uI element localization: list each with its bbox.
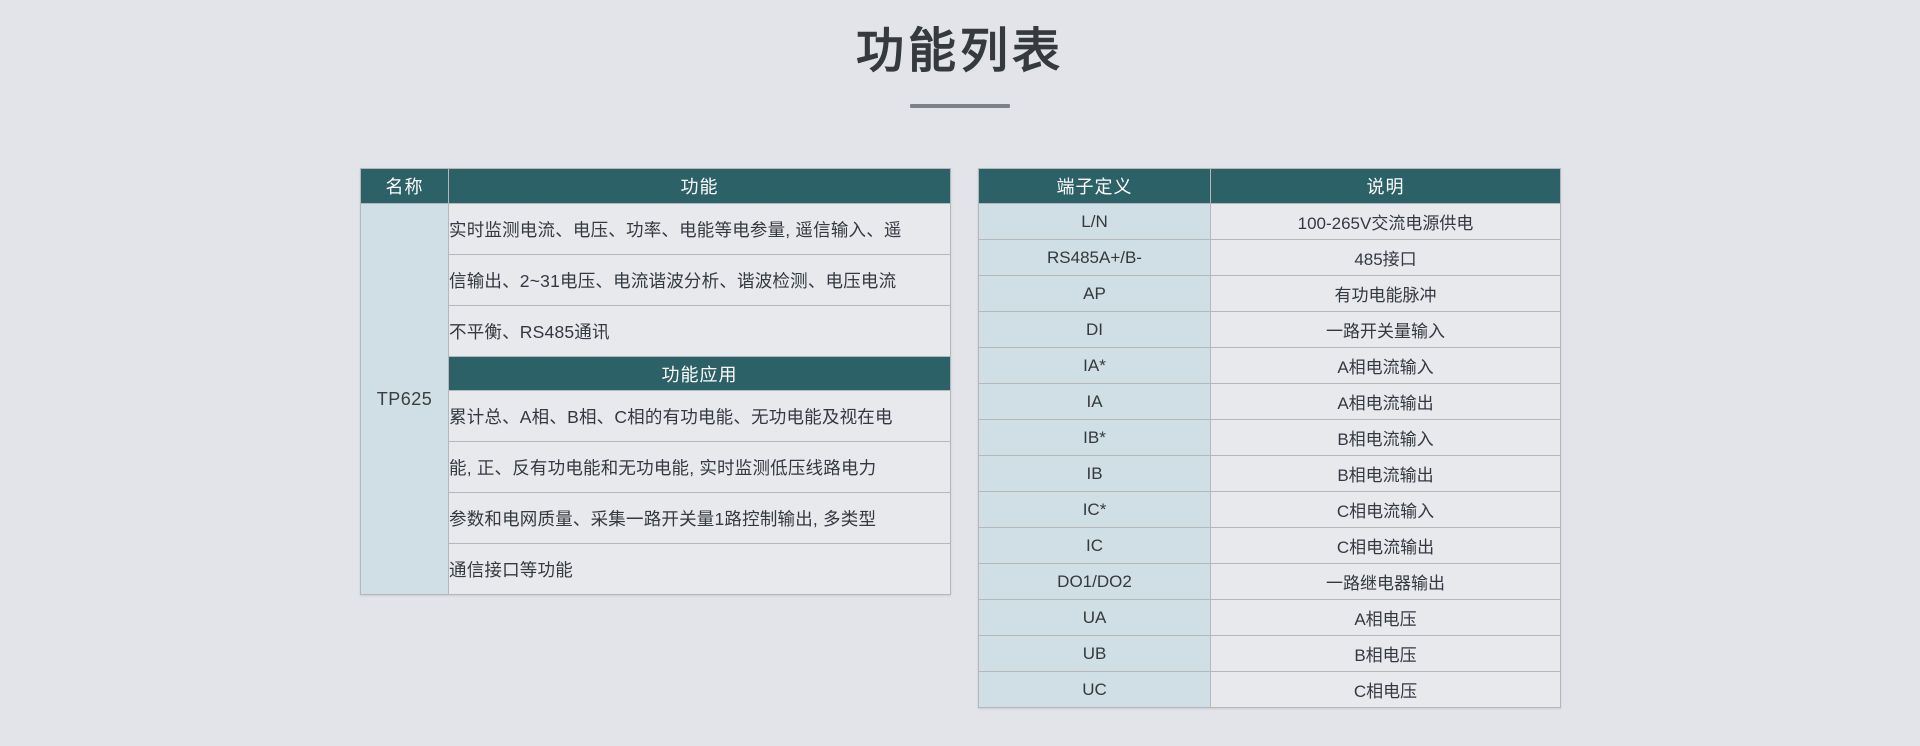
function-text: 实时监测电流、电压、功率、电能等电参量, 遥信输入、遥 — [449, 204, 951, 255]
terminal-name: AP — [979, 276, 1211, 312]
terminal-description: B相电流输入 — [1211, 420, 1561, 456]
page-title: 功能列表 — [0, 22, 1920, 82]
table-row: TP625 实时监测电流、电压、功率、电能等电参量, 遥信输入、遥 — [361, 204, 951, 255]
table-row: RS485A+/B-485接口 — [979, 240, 1561, 276]
terminal-description: 一路开关量输入 — [1211, 312, 1561, 348]
terminal-description: C相电流输出 — [1211, 528, 1561, 564]
right-table-header-row: 端子定义 说明 — [979, 169, 1561, 204]
terminal-name: DO1/DO2 — [979, 564, 1211, 600]
function-text: 不平衡、RS485通讯 — [449, 306, 951, 357]
table-row: 能, 正、反有功电能和无功电能, 实时监测低压线路电力 — [361, 442, 951, 493]
table-row: DO1/DO2一路继电器输出 — [979, 564, 1561, 600]
terminal-name: IC — [979, 528, 1211, 564]
title-divider — [910, 104, 1010, 108]
table-row: ICC相电流输出 — [979, 528, 1561, 564]
table-row: IAA相电流输出 — [979, 384, 1561, 420]
terminal-name: L/N — [979, 204, 1211, 240]
terminal-description: 一路继电器输出 — [1211, 564, 1561, 600]
terminal-name: IA — [979, 384, 1211, 420]
table-row: UBB相电压 — [979, 636, 1561, 672]
left-header-function: 功能 — [449, 169, 951, 204]
table-row: IA*A相电流输入 — [979, 348, 1561, 384]
table-row: 不平衡、RS485通讯 — [361, 306, 951, 357]
terminal-name: UA — [979, 600, 1211, 636]
table-subheader-row: 功能应用 — [361, 357, 951, 391]
terminal-description: 有功电能脉冲 — [1211, 276, 1561, 312]
table-row: 参数和电网质量、采集一路开关量1路控制输出, 多类型 — [361, 493, 951, 544]
function-text: 参数和电网质量、采集一路开关量1路控制输出, 多类型 — [449, 493, 951, 544]
table-row: IB*B相电流输入 — [979, 420, 1561, 456]
table-row: UCC相电压 — [979, 672, 1561, 708]
table-row: L/N100-265V交流电源供电 — [979, 204, 1561, 240]
product-name-cell: TP625 — [361, 204, 449, 595]
right-header-terminal: 端子定义 — [979, 169, 1211, 204]
function-text: 能, 正、反有功电能和无功电能, 实时监测低压线路电力 — [449, 442, 951, 493]
terminal-description: 100-265V交流电源供电 — [1211, 204, 1561, 240]
table-row: AP有功电能脉冲 — [979, 276, 1561, 312]
left-table-header-row: 名称 功能 — [361, 169, 951, 204]
terminal-description: A相电压 — [1211, 600, 1561, 636]
terminal-rows-body: L/N100-265V交流电源供电RS485A+/B-485接口AP有功电能脉冲… — [979, 204, 1561, 708]
terminal-definition-table: 端子定义 说明 L/N100-265V交流电源供电RS485A+/B-485接口… — [978, 168, 1561, 708]
table-row: 通信接口等功能 — [361, 544, 951, 595]
terminal-description: C相电压 — [1211, 672, 1561, 708]
page-root: 功能列表 名称 功能 TP625 实时监测电流、电压、功率、电能等电参量, 遥信… — [0, 0, 1920, 746]
terminal-name: UB — [979, 636, 1211, 672]
tables-wrap: 名称 功能 TP625 实时监测电流、电压、功率、电能等电参量, 遥信输入、遥 … — [0, 168, 1920, 708]
terminal-name: IA* — [979, 348, 1211, 384]
terminal-description: B相电压 — [1211, 636, 1561, 672]
terminal-description: 485接口 — [1211, 240, 1561, 276]
terminal-name: IC* — [979, 492, 1211, 528]
title-block: 功能列表 — [0, 22, 1920, 108]
terminal-name: IB* — [979, 420, 1211, 456]
function-application-subheader: 功能应用 — [449, 357, 951, 391]
right-header-description: 说明 — [1211, 169, 1561, 204]
table-row: UAA相电压 — [979, 600, 1561, 636]
terminal-name: IB — [979, 456, 1211, 492]
left-header-name: 名称 — [361, 169, 449, 204]
terminal-name: UC — [979, 672, 1211, 708]
function-text: 累计总、A相、B相、C相的有功电能、无功电能及视在电 — [449, 391, 951, 442]
terminal-description: A相电流输出 — [1211, 384, 1561, 420]
terminal-name: RS485A+/B- — [979, 240, 1211, 276]
table-row: IC*C相电流输入 — [979, 492, 1561, 528]
table-row: 累计总、A相、B相、C相的有功电能、无功电能及视在电 — [361, 391, 951, 442]
function-text: 信输出、2~31电压、电流谐波分析、谐波检测、电压电流 — [449, 255, 951, 306]
terminal-description: C相电流输入 — [1211, 492, 1561, 528]
table-row: IBB相电流输出 — [979, 456, 1561, 492]
function-list-table: 名称 功能 TP625 实时监测电流、电压、功率、电能等电参量, 遥信输入、遥 … — [360, 168, 951, 595]
table-row: DI一路开关量输入 — [979, 312, 1561, 348]
terminal-name: DI — [979, 312, 1211, 348]
table-row: 信输出、2~31电压、电流谐波分析、谐波检测、电压电流 — [361, 255, 951, 306]
terminal-description: B相电流输出 — [1211, 456, 1561, 492]
function-text: 通信接口等功能 — [449, 544, 951, 595]
terminal-description: A相电流输入 — [1211, 348, 1561, 384]
